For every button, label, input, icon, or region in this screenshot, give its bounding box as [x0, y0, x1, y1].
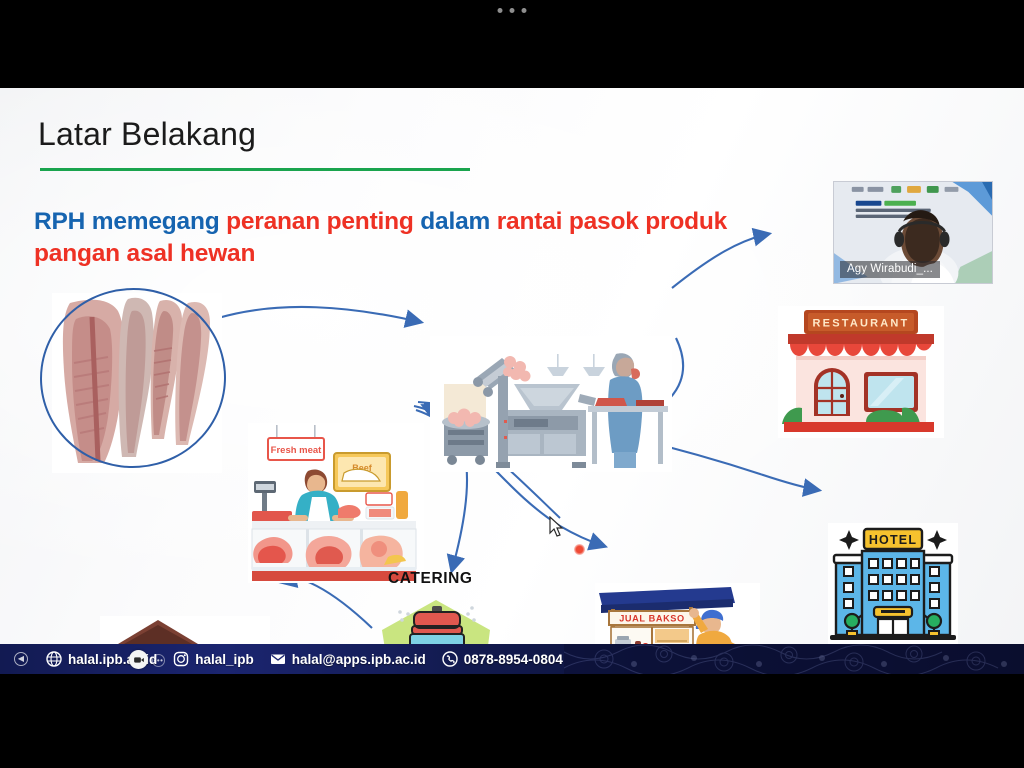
laser-pointer-dot [574, 544, 585, 555]
bottom-black-bar [0, 674, 1024, 768]
top-black-bar [0, 0, 1024, 88]
contact-email[interactable]: halal@apps.ipb.ac.id [270, 651, 426, 667]
video-camera-icon [133, 654, 145, 666]
restaurant-building-illustration: RESTAURANT [778, 306, 944, 438]
contact-list: ◀ halal.ipb.ac.id halal_ipb [0, 651, 563, 667]
webcam-icon-overlay[interactable] [129, 650, 148, 669]
mouse-cursor [549, 516, 565, 538]
app-root: Latar Belakang RPH memegang peranan pent… [0, 0, 1024, 768]
shared-slide-stage: Latar Belakang RPH memegang peranan pent… [0, 88, 1024, 644]
participant-video-tile[interactable]: Agy Wirabudi_... [833, 181, 993, 284]
dot-3 [522, 8, 527, 13]
globe-icon [46, 651, 62, 667]
footer-more-button[interactable]: ••• [152, 654, 165, 667]
previous-slide-button[interactable]: ◀ [14, 652, 28, 666]
meat-processing-plant-illustration [430, 336, 672, 472]
warung-soto-ayam-illustration: SOTO AYAM [100, 616, 270, 644]
instagram-text: halal_ipb [195, 652, 254, 667]
svg-text:HOTEL: HOTEL [869, 533, 917, 547]
catering-illustration [372, 590, 502, 644]
email-text: halal@apps.ipb.ac.id [292, 652, 426, 667]
participant-name-badge: Agy Wirabudi_... [840, 261, 940, 278]
dot-1 [498, 8, 503, 13]
instagram-icon [173, 651, 189, 667]
whatsapp-icon [442, 651, 458, 667]
hotel-building-illustration: HOTEL [828, 523, 958, 644]
more-options-button[interactable] [492, 5, 533, 16]
dot-2 [510, 8, 515, 13]
svg-text:Fresh meat: Fresh meat [271, 445, 323, 456]
contact-instagram[interactable]: halal_ipb [173, 651, 254, 667]
email-icon [270, 651, 286, 667]
batik-pattern [564, 644, 1024, 674]
bakso-cart-illustration: JUAL BAKSO [595, 583, 760, 644]
svg-text:RESTAURANT: RESTAURANT [813, 318, 910, 330]
whatsapp-text: 0878-8954-0804 [464, 652, 563, 667]
svg-text:JUAL BAKSO: JUAL BAKSO [619, 614, 685, 624]
catering-label: CATERING [388, 570, 473, 588]
butcher-shop-illustration: Fresh meat Beef [248, 423, 424, 583]
contact-whatsapp[interactable]: 0878-8954-0804 [442, 651, 563, 667]
